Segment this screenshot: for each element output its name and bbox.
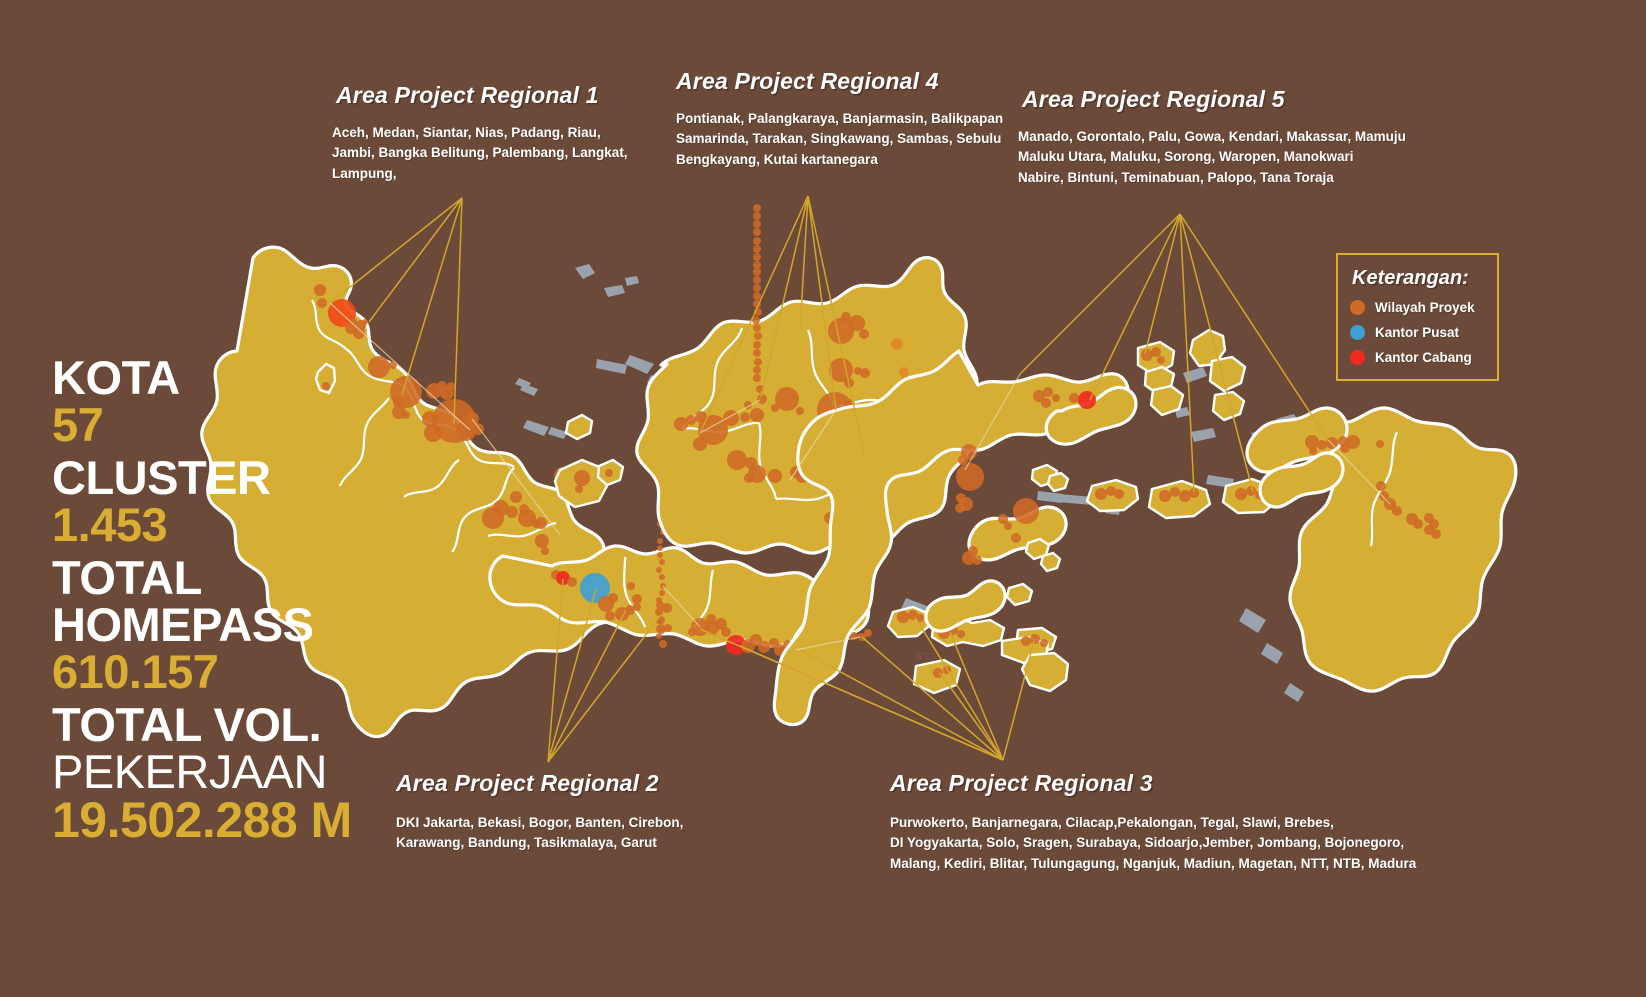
- map-label-ntt: NTT: [916, 652, 935, 663]
- stat-label-total: TOTAL: [52, 555, 382, 601]
- legend-item-wilayah-proyek: Wilayah Proyek: [1350, 300, 1487, 315]
- callout-line: Pontianak, Palangkaraya, Banjarmasin, Ba…: [676, 109, 1003, 129]
- callout-regional-5: Area Project Regional 5 Manado, Gorontal…: [1018, 86, 1406, 188]
- callout-body-regional-4: Pontianak, Palangkaraya, Banjarmasin, Ba…: [676, 109, 1003, 170]
- circle-marker-icon: [1350, 300, 1365, 315]
- stat-label-homepass: HOMEPASS: [52, 602, 382, 648]
- callout-line: DI Yogyakarta, Solo, Sragen, Surabaya, S…: [890, 833, 1416, 853]
- legend-label: Kantor Cabang: [1375, 350, 1472, 365]
- island-papua: [1247, 408, 1516, 691]
- stat-value-pekerjaan: 19.502.288 M: [52, 796, 382, 845]
- map-legend: Keterangan: Wilayah Proyek Kantor Pusat …: [1336, 253, 1499, 381]
- callout-line: Nabire, Bintuni, Teminabuan, Palopo, Tan…: [1018, 168, 1406, 188]
- callout-body-regional-2: DKI Jakarta, Bekasi, Bogor, Banten, Cire…: [396, 813, 683, 854]
- stats-block: KOTA 57 CLUSTER 1.453 TOTAL HOMEPASS 610…: [52, 355, 382, 852]
- legend-label: Kantor Pusat: [1375, 325, 1459, 340]
- stat-label-pekerjaan: PEKERJAAN: [52, 749, 382, 795]
- callout-regional-2: Area Project Regional 2 DKI Jakarta, Bek…: [396, 770, 683, 854]
- circle-marker-icon: [1350, 325, 1365, 340]
- stat-value-kota: 57: [52, 402, 382, 448]
- legend-title: Keterangan:: [1352, 267, 1487, 290]
- callout-title-regional-4: Area Project Regional 4: [676, 68, 1003, 95]
- legend-item-kantor-pusat: Kantor Pusat: [1350, 325, 1487, 340]
- legend-label: Wilayah Proyek: [1375, 300, 1475, 315]
- callout-line: Malang, Kediri, Blitar, Tulungagung, Nga…: [890, 854, 1416, 874]
- callout-title-regional-2: Area Project Regional 2: [396, 770, 683, 797]
- callout-line: Aceh, Medan, Siantar, Nias, Padang, Riau…: [332, 123, 628, 143]
- callout-line: Jambi, Bangka Belitung, Palembang, Langk…: [332, 143, 628, 163]
- infographic-root: .land{fill:#d5ae33;stroke:#ffffff;stroke…: [0, 0, 1646, 997]
- stat-label-kota: KOTA: [52, 355, 382, 401]
- callout-regional-1: Area Project Regional 1 Aceh, Medan, Sia…: [332, 82, 628, 184]
- callout-line: Samarinda, Tarakan, Singkawang, Sambas, …: [676, 129, 1003, 149]
- callout-line: Manado, Gorontalo, Palu, Gowa, Kendari, …: [1018, 127, 1406, 147]
- stat-value-cluster: 1.453: [52, 502, 382, 548]
- legend-item-kantor-cabang: Kantor Cabang: [1350, 350, 1487, 365]
- callout-title-regional-5: Area Project Regional 5: [1022, 86, 1406, 113]
- callout-body-regional-3: Purwokerto, Banjarnegara, Cilacap,Pekalo…: [890, 813, 1416, 874]
- callout-regional-4: Area Project Regional 4 Pontianak, Palan…: [676, 68, 1003, 170]
- callout-line: DKI Jakarta, Bekasi, Bogor, Banten, Cire…: [396, 813, 683, 833]
- callout-line: Lampung,: [332, 164, 628, 184]
- callout-line: Karawang, Bandung, Tasikmalaya, Garut: [396, 833, 683, 853]
- callout-line: Bengkayang, Kutai kartanegara: [676, 150, 1003, 170]
- callout-body-regional-1: Aceh, Medan, Siantar, Nias, Padang, Riau…: [332, 123, 628, 184]
- callout-regional-3: Area Project Regional 3 Purwokerto, Banj…: [890, 770, 1416, 874]
- callout-title-regional-1: Area Project Regional 1: [336, 82, 628, 109]
- callout-title-regional-3: Area Project Regional 3: [890, 770, 1416, 797]
- callout-body-regional-5: Manado, Gorontalo, Palu, Gowa, Kendari, …: [1018, 127, 1406, 188]
- circle-marker-icon: [1350, 350, 1365, 365]
- stat-label-total-vol: TOTAL VOL.: [52, 702, 382, 748]
- stat-label-cluster: CLUSTER: [52, 455, 382, 501]
- callout-line: Maluku Utara, Maluku, Sorong, Waropen, M…: [1018, 147, 1406, 167]
- callout-line: Purwokerto, Banjarnegara, Cilacap,Pekalo…: [890, 813, 1416, 833]
- stat-value-homepass: 610.157: [52, 649, 382, 695]
